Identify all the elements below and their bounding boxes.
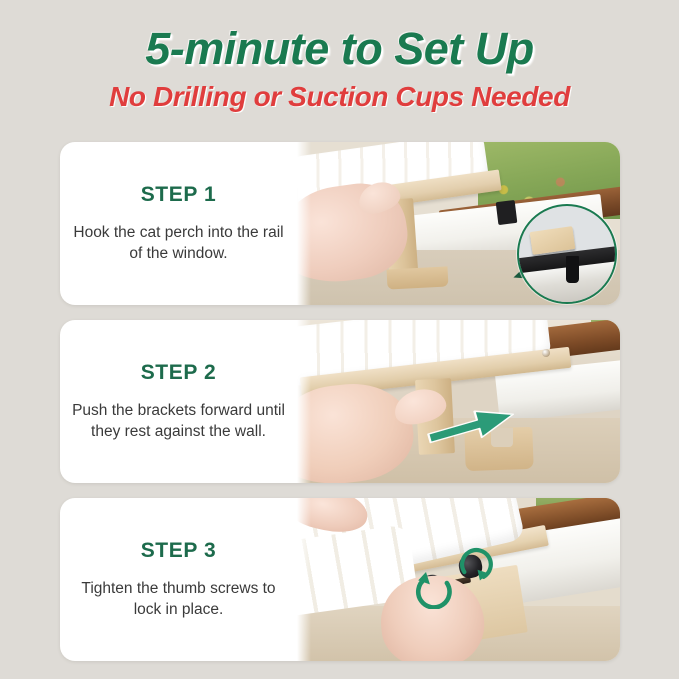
page-title: 5-minute to Set Up — [0, 26, 679, 71]
step-card-3: STEP 3 Tighten the thumb screws to lock … — [60, 498, 620, 661]
header: 5-minute to Set Up No Drilling or Suctio… — [0, 0, 679, 111]
green-rotate-arrow-icon — [397, 570, 468, 609]
step-2-text-panel: STEP 2 Push the brackets forward until t… — [60, 320, 297, 483]
step-3-text-panel: STEP 3 Tighten the thumb screws to lock … — [60, 498, 297, 661]
step-2-label: STEP 2 — [141, 361, 217, 385]
step-3-label: STEP 3 — [141, 539, 217, 563]
inset-black-clip — [566, 256, 578, 283]
step-card-1: STEP 1 Hook the cat perch into the rail … — [60, 142, 620, 305]
step-1-photo — [297, 142, 620, 305]
step-1-label: STEP 1 — [141, 183, 217, 207]
inset-wood-hook — [529, 226, 575, 255]
step-2-photo — [297, 320, 620, 483]
step-3-description: Tighten the thumb screws to lock in plac… — [66, 579, 291, 621]
perch-bracket-hook — [387, 266, 449, 289]
step-1-text-panel: STEP 1 Hook the cat perch into the rail … — [60, 142, 297, 305]
step-1-description: Hook the cat perch into the rail of the … — [66, 223, 291, 265]
steps-list: STEP 1 Hook the cat perch into the rail … — [60, 142, 620, 676]
rail-hook-closeup-inset — [517, 204, 617, 304]
step-3-photo — [297, 498, 620, 661]
step-2-description: Push the brackets forward until they res… — [66, 401, 291, 443]
rail-clip — [496, 200, 518, 225]
page-subtitle: No Drilling or Suction Cups Needed — [0, 83, 679, 111]
step-card-2: STEP 2 Push the brackets forward until t… — [60, 320, 620, 483]
